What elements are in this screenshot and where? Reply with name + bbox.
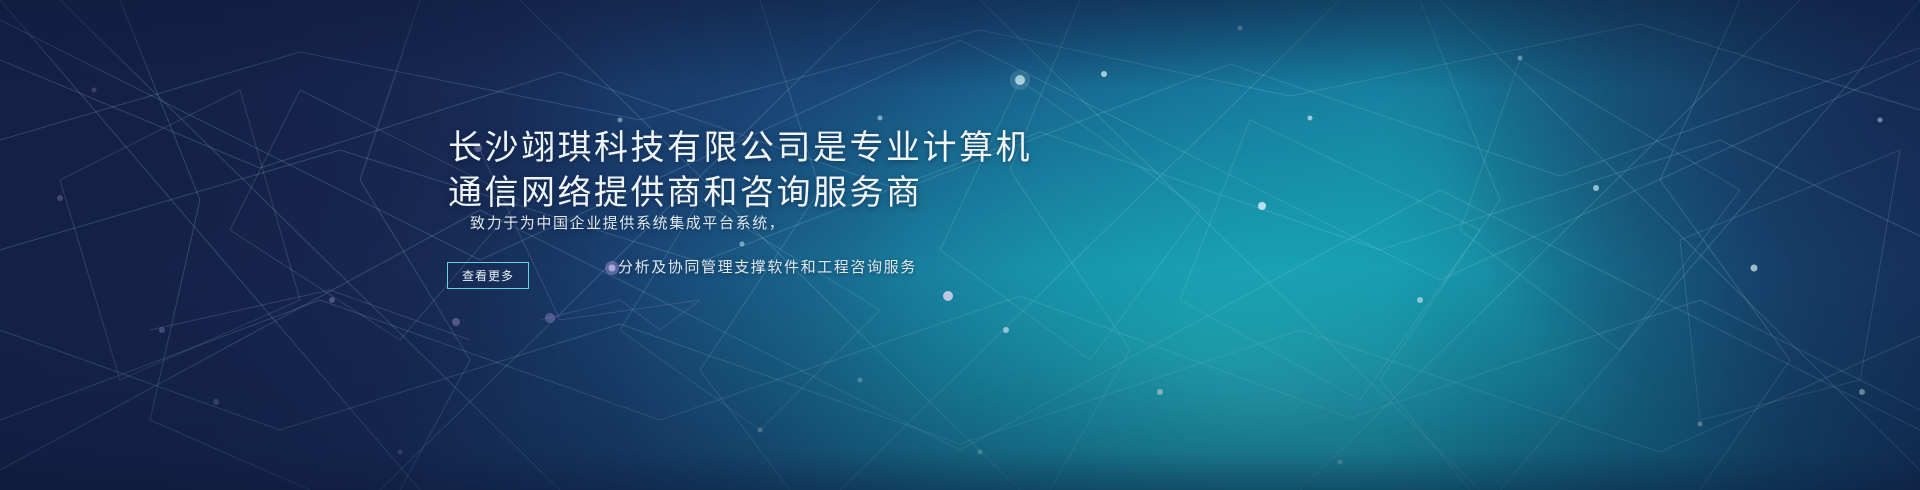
hero-headline-line-1: 长沙翊琪科技有限公司是专业计算机 [448,126,1032,171]
hero-headline: 长沙翊琪科技有限公司是专业计算机 通信网络提供商和咨询服务商 [448,126,1032,216]
hero-banner: 长沙翊琪科技有限公司是专业计算机 通信网络提供商和咨询服务商 致力于为中国企业提… [0,0,1920,490]
hero-subtitle-line-1: 致力于为中国企业提供系统集成平台系统， [470,212,785,236]
view-more-button[interactable]: 查看更多 [447,262,529,289]
hero-content: 长沙翊琪科技有限公司是专业计算机 通信网络提供商和咨询服务商 致力于为中国企业提… [0,0,1920,490]
hero-subtitle-line-2: 分析及协同管理支撑软件和工程咨询服务 [618,256,917,280]
hero-headline-line-2: 通信网络提供商和咨询服务商 [448,171,1032,216]
